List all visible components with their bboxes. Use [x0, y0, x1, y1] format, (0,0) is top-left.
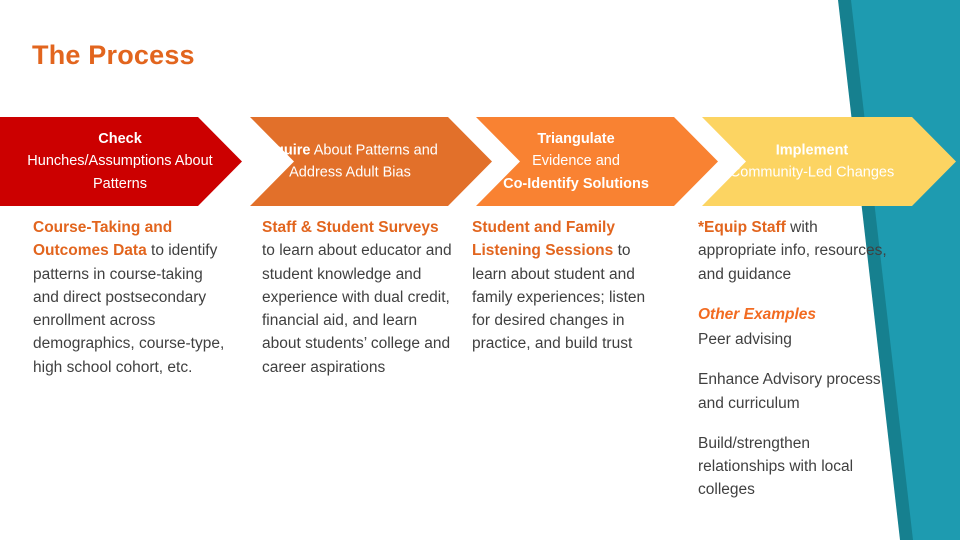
detail-body: Peer advising — [698, 331, 792, 348]
process-arrow-bold-check: Check — [98, 131, 142, 147]
detail-column-equip-staff: *Equip Staff with appropriate info, reso… — [698, 216, 898, 502]
page-title: The Process — [32, 40, 195, 71]
detail-body: Enhance Advisory process and curriculum — [698, 371, 881, 411]
detail-body: to identify patterns in course-taking an… — [33, 242, 224, 375]
process-arrow-bold-triangulate: Triangulate — [537, 131, 614, 147]
slide-canvas: The Process Check Hunches/Assumptions Ab… — [0, 0, 960, 540]
detail-highlight: Staff & Student Surveys — [262, 219, 439, 236]
detail-paragraph: Student and Family Listening Sessions to… — [472, 216, 662, 356]
detail-paragraph: Staff & Student Surveys to learn about e… — [262, 216, 454, 379]
process-arrow-rest-check: Hunches/Assumptions About Patterns — [27, 153, 212, 192]
process-arrow-label-implement: Implement Community-Led Changes — [712, 139, 912, 184]
process-arrow-bold-inquire: Inquire — [262, 142, 310, 158]
process-arrow-label-inquire: Inquire About Patterns and Address Adult… — [256, 139, 444, 184]
detail-column-course-taking: Course-Taking and Outcomes Data to ident… — [33, 216, 229, 379]
process-arrow-label-triangulate: Triangulate Evidence and Co-Identify Sol… — [482, 128, 670, 196]
process-arrow-rest-triangulate: Evidence and — [532, 153, 620, 169]
process-arrow-band: Check Hunches/Assumptions About Patterns… — [0, 117, 960, 206]
detail-paragraph: Enhance Advisory process and curriculum — [698, 368, 898, 415]
process-arrow-label-check: Check Hunches/Assumptions About Patterns — [6, 128, 234, 196]
detail-body: Build/strengthen relationships with loca… — [698, 435, 853, 499]
detail-paragraph: Course-Taking and Outcomes Data to ident… — [33, 216, 229, 379]
process-arrow-bold-implement: Implement — [776, 142, 849, 158]
detail-columns: Course-Taking and Outcomes Data to ident… — [0, 216, 960, 540]
detail-highlight-other-examples: Other Examples — [698, 306, 816, 323]
detail-body: to learn about educator and student know… — [262, 242, 452, 375]
detail-paragraph: *Equip Staff with appropriate info, reso… — [698, 216, 898, 286]
detail-paragraph: Other Examples — [698, 303, 898, 326]
detail-column-surveys: Staff & Student Surveys to learn about e… — [262, 216, 454, 379]
process-arrow-rest-implement: Community-Led Changes — [730, 165, 894, 181]
process-arrow-bold-coidentify: Co-Identify Solutions — [503, 176, 649, 192]
detail-column-listening-sessions: Student and Family Listening Sessions to… — [472, 216, 662, 356]
detail-highlight: *Equip Staff — [698, 219, 786, 236]
detail-paragraph: Peer advising — [698, 328, 898, 351]
detail-paragraph: Build/strengthen relationships with loca… — [698, 432, 898, 502]
process-arrow-rest-inquire: About Patterns and Address Adult Bias — [289, 142, 438, 181]
detail-highlight: Student and Family Listening Sessions — [472, 219, 615, 259]
